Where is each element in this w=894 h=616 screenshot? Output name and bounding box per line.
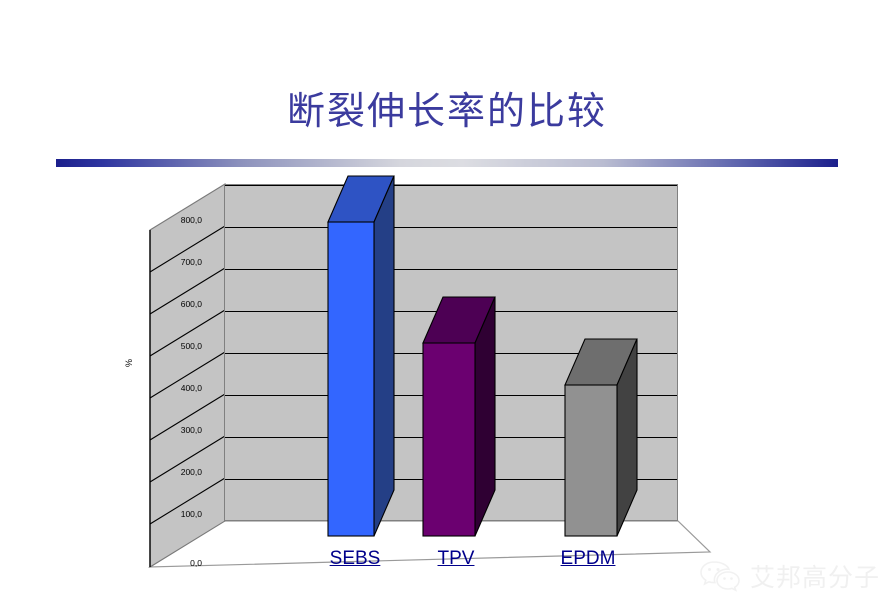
y-tick-label-800: 800,0 bbox=[110, 215, 202, 225]
y-tick-label-200: 200,0 bbox=[110, 467, 202, 477]
y-tick-label-700: 700,0 bbox=[110, 257, 202, 267]
y-tick-label-400: 400,0 bbox=[110, 383, 202, 393]
bar-chart: 800,0 700,0 600,0 500,0 400,0 300,0 200,… bbox=[110, 175, 710, 545]
page-title: 断裂伸长率的比较 bbox=[0, 88, 894, 134]
y-tick-label-0: 0,0 bbox=[110, 558, 202, 568]
bar-sebs[interactable] bbox=[328, 175, 394, 567]
bar-tpv[interactable] bbox=[423, 175, 495, 567]
y-tick-label-300: 300,0 bbox=[110, 425, 202, 435]
y-tick-label-600: 600,0 bbox=[110, 299, 202, 309]
y-tick-label-100: 100,0 bbox=[110, 509, 202, 519]
watermark: 艾邦高分子 bbox=[699, 558, 880, 594]
slide-canvas: 断裂伸长率的比较 bbox=[0, 0, 894, 616]
y-tick-label-500: 500,0 bbox=[110, 341, 202, 351]
y-axis-title: % bbox=[124, 359, 134, 367]
bar-epdm[interactable] bbox=[565, 175, 637, 567]
title-divider bbox=[56, 159, 838, 167]
x-axis-label-tpv: TPV bbox=[396, 548, 516, 570]
wechat-icon bbox=[699, 559, 741, 593]
watermark-text: 艾邦高分子 bbox=[750, 558, 880, 594]
x-axis-label-epdm: EPDM bbox=[528, 548, 648, 570]
